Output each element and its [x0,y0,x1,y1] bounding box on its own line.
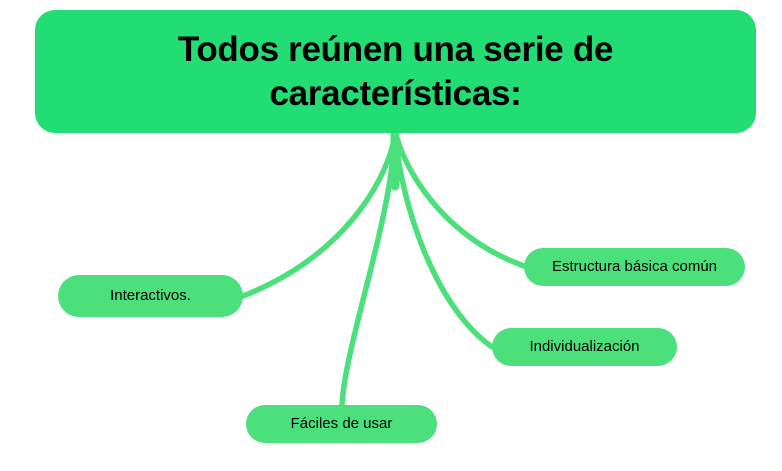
root-node-label: Todos reúnen una serie de característica… [152,28,639,116]
node-faciles-de-usar-label: Fáciles de usar [277,415,407,433]
node-interactivos[interactable]: Interactivos. [58,275,243,317]
connector-to-interactivos [243,140,394,296]
root-node-label-line1: Todos reúnen una serie de [178,30,613,69]
root-node-label-line2: características: [269,74,521,113]
node-interactivos-label: Interactivos. [96,287,205,305]
node-estructura-basica-comun[interactable]: Estructura básica común [524,248,745,286]
node-estructura-basica-comun-label: Estructura básica común [538,258,731,276]
node-individualizacion[interactable]: Individualización [492,328,677,366]
node-faciles-de-usar[interactable]: Fáciles de usar [246,405,437,443]
connector-to-faciles [342,146,394,405]
mindmap-canvas: Todos reúnen una serie de característica… [0,0,782,471]
node-individualizacion-label: Individualización [515,338,653,356]
connector-to-estructura [397,138,524,266]
root-node-header[interactable]: Todos reúnen una serie de característica… [35,10,756,133]
connector-to-individualizacion [396,142,492,347]
